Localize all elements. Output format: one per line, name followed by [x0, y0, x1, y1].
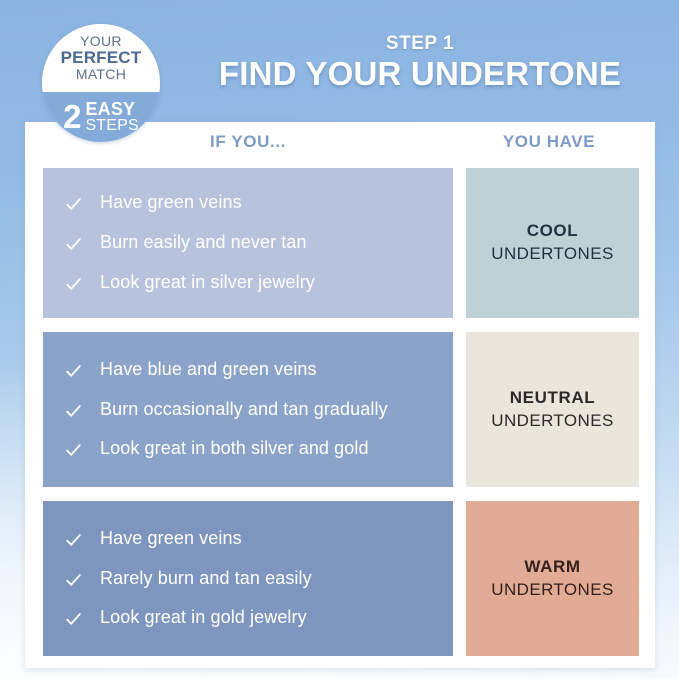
undertone-name: WARM — [524, 556, 580, 579]
badge-line-your: YOUR — [80, 34, 122, 49]
check-icon — [65, 611, 82, 628]
trait-label: Look great in both silver and gold — [100, 438, 369, 460]
undertone-row: Have green veinsRarely burn and tan easi… — [43, 501, 639, 656]
content-card: IF YOU... YOU HAVE Have green veinsBurn … — [25, 122, 655, 668]
column-header-you-have: YOU HAVE — [460, 132, 638, 152]
trait-label: Burn occasionally and tan gradually — [100, 399, 388, 421]
undertone-name: NEUTRAL — [510, 387, 595, 410]
undertone-name: COOL — [527, 220, 579, 243]
undertone-swatch: COOLUNDERTONES — [466, 168, 639, 318]
trait-item: Have green veins — [65, 192, 437, 214]
undertone-swatch: WARMUNDERTONES — [466, 501, 639, 656]
badge-bottom-half: 2 EASY STEPS — [42, 92, 160, 142]
undertone-sublabel: UNDERTONES — [491, 579, 613, 602]
traits-panel: Have blue and green veinsBurn occasional… — [43, 332, 453, 487]
badge-line-perfect: PERFECT — [61, 49, 142, 67]
trait-item: Look great in silver jewelry — [65, 272, 437, 294]
trait-item: Have green veins — [65, 528, 437, 550]
trait-item: Burn occasionally and tan gradually — [65, 399, 437, 421]
trait-label: Burn easily and never tan — [100, 232, 307, 254]
badge-steps-label: STEPS — [85, 118, 138, 134]
check-icon — [65, 363, 82, 380]
trait-item: Rarely burn and tan easily — [65, 568, 437, 590]
badge-easy-label: EASY — [85, 100, 138, 118]
trait-item: Have blue and green veins — [65, 359, 437, 381]
undertone-row: Have blue and green veinsBurn occasional… — [43, 332, 639, 487]
page-title: FIND YOUR UNDERTONE — [185, 55, 655, 93]
trait-label: Look great in gold jewelry — [100, 607, 307, 629]
check-icon — [65, 442, 82, 459]
your-perfect-match-badge: YOUR PERFECT MATCH 2 EASY STEPS — [42, 24, 160, 142]
check-icon — [65, 236, 82, 253]
trait-label: Have green veins — [100, 528, 242, 550]
undertone-rows: Have green veinsBurn easily and never ta… — [43, 168, 639, 670]
undertone-infographic: STEP 1 FIND YOUR UNDERTONE YOUR PERFECT … — [0, 0, 679, 679]
check-icon — [65, 532, 82, 549]
traits-panel: Have green veinsBurn easily and never ta… — [43, 168, 453, 318]
badge-steps-text: EASY STEPS — [85, 100, 138, 134]
trait-item: Look great in gold jewelry — [65, 607, 437, 629]
undertone-sublabel: UNDERTONES — [491, 243, 613, 266]
step-label: STEP 1 — [200, 33, 640, 55]
check-icon — [65, 572, 82, 589]
undertone-sublabel: UNDERTONES — [491, 410, 613, 433]
traits-panel: Have green veinsRarely burn and tan easi… — [43, 501, 453, 656]
trait-item: Look great in both silver and gold — [65, 438, 437, 460]
badge-top-half: YOUR PERFECT MATCH — [42, 24, 160, 92]
check-icon — [65, 276, 82, 293]
trait-item: Burn easily and never tan — [65, 232, 437, 254]
badge-step-count: 2 — [63, 102, 81, 132]
trait-label: Look great in silver jewelry — [100, 272, 315, 294]
badge-line-match: MATCH — [76, 67, 126, 82]
check-icon — [65, 196, 82, 213]
undertone-swatch: NEUTRALUNDERTONES — [466, 332, 639, 487]
trait-label: Have green veins — [100, 192, 242, 214]
undertone-row: Have green veinsBurn easily and never ta… — [43, 168, 639, 318]
trait-label: Have blue and green veins — [100, 359, 317, 381]
check-icon — [65, 403, 82, 420]
trait-label: Rarely burn and tan easily — [100, 568, 312, 590]
